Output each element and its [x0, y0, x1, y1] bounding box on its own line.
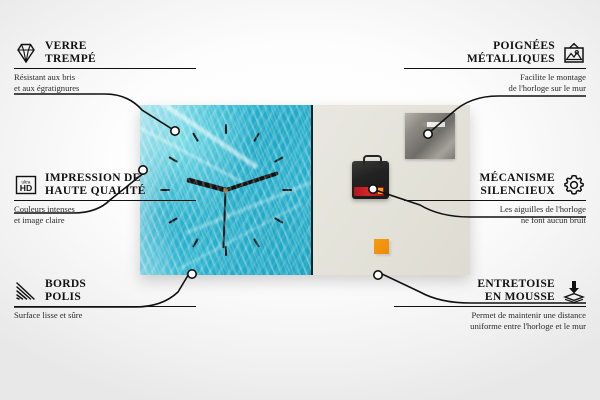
callout-divider — [14, 68, 196, 69]
clock-tick — [226, 189, 292, 191]
callout-divider — [404, 68, 586, 69]
battery-part — [354, 187, 384, 196]
gear-icon — [562, 173, 586, 197]
polished-edges-icon — [14, 279, 38, 303]
callout-title-2: SILENCIEUX — [479, 185, 555, 198]
callout-sub-2: de l'horloge sur le mur — [404, 83, 586, 94]
callout-entretoise-en-mousse[interactable]: ENTRETOISE EN MOUSSE Permet de maintenir… — [394, 278, 586, 331]
clock-second-hand — [223, 190, 227, 248]
clock-tick — [192, 132, 227, 190]
callout-divider — [14, 200, 196, 201]
callout-divider — [14, 306, 196, 307]
callout-verre-trempe[interactable]: VERRE TREMPÉ Résistant aux bris et aux é… — [14, 40, 196, 93]
callout-title-2: MÉTALLIQUES — [467, 53, 555, 66]
callout-sub-1: Les aiguilles de l'horloge — [404, 204, 586, 215]
callout-title-2: EN MOUSSE — [477, 291, 555, 304]
picture-frame-icon — [562, 41, 586, 65]
callout-title: VERRE — [45, 40, 96, 53]
infographic-stage: VERRE TREMPÉ Résistant aux bris et aux é… — [0, 0, 600, 400]
clock-tick — [225, 190, 260, 248]
callout-sub-2: ne font aucun bruit — [404, 215, 586, 226]
callout-sub-2: et image claire — [14, 215, 196, 226]
callout-mecanisme-silencieux[interactable]: MÉCANISME SILENCIEUX Les aiguilles de l'… — [404, 172, 586, 225]
callout-sub-1: Couleurs intenses — [14, 204, 196, 215]
clock-center-pin — [223, 188, 228, 193]
callout-title: IMPRESSION DE — [45, 172, 146, 185]
callout-bords-polis[interactable]: BORDS POLIS Surface lisse et sûre — [14, 278, 196, 321]
clock-movement-part — [352, 161, 389, 199]
clock-tick — [225, 189, 283, 224]
callout-title-2: TREMPÉ — [45, 53, 96, 66]
metal-hanger-part — [405, 113, 455, 159]
clock-tick — [225, 124, 227, 190]
callout-title: BORDS — [45, 278, 86, 291]
diamond-icon — [14, 41, 38, 65]
callout-impression-hd[interactable]: ultra HD IMPRESSION DE HAUTE QUALITÉ Cou… — [14, 172, 196, 225]
callout-sub-1: Permet de maintenir une distance — [394, 310, 586, 321]
callout-divider — [394, 306, 586, 307]
clock-minute-hand — [225, 171, 279, 192]
ultra-hd-icon: ultra HD — [14, 173, 38, 197]
callout-sub-1: Résistant aux bris — [14, 72, 196, 83]
callout-sub-1: Facilite le montage — [404, 72, 586, 83]
clock-tick — [225, 190, 227, 256]
callout-title: ENTRETOISE — [477, 278, 555, 291]
foam-spacer-icon — [562, 279, 586, 303]
callout-title-2: HAUTE QUALITÉ — [45, 185, 146, 198]
callout-sub-2: uniforme entre l'horloge et le mur — [394, 321, 586, 332]
callout-title: MÉCANISME — [479, 172, 555, 185]
callout-title-2: POLIS — [45, 291, 86, 304]
callout-sub-2: et aux égratignures — [14, 83, 196, 94]
callout-title: POIGNÉES — [467, 40, 555, 53]
foam-spacer-part — [374, 239, 389, 254]
callout-sub-1: Surface lisse et sûre — [14, 310, 196, 321]
svg-text:HD: HD — [20, 183, 32, 193]
callout-poignees-metalliques[interactable]: POIGNÉES MÉTALLIQUES Facilite le montage… — [404, 40, 586, 93]
clock-tick — [192, 190, 227, 248]
clock-tick — [225, 156, 283, 191]
callout-divider — [404, 200, 586, 201]
clock-tick — [225, 132, 260, 190]
